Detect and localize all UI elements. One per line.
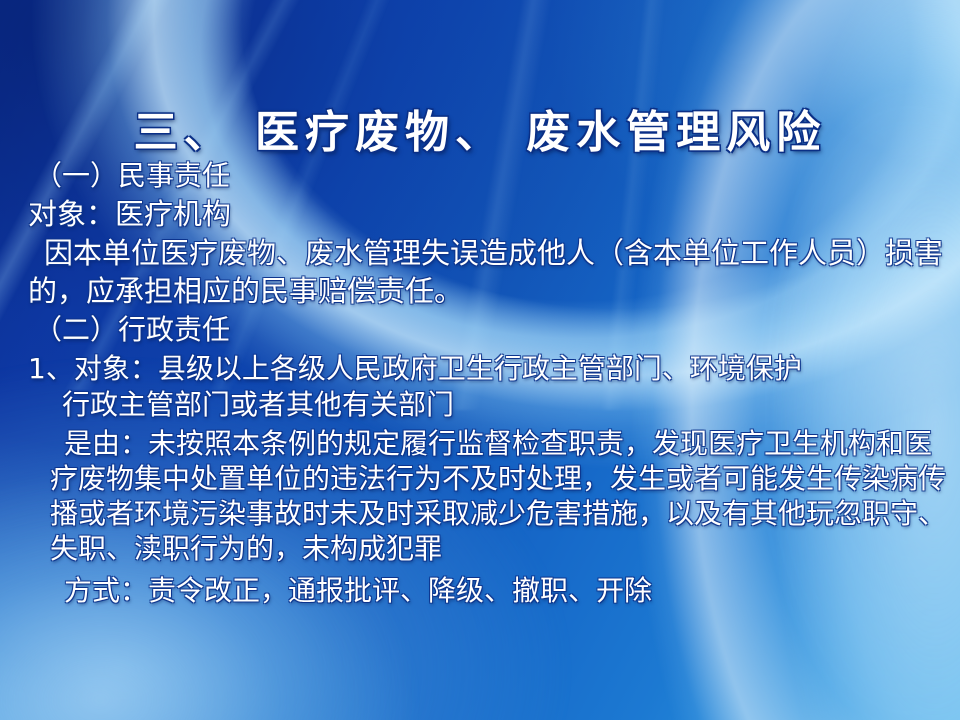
slide-content: 三、 医疗废物、 废水管理风险 （一）民事责任 对象：医疗机构 因本单位医疗废物… <box>0 0 960 720</box>
section-one-paragraph: 因本单位医疗废物、废水管理失误造成他人（含本单位工作人员）损害的，应承担相应的民… <box>16 235 946 310</box>
item-one-subject: 1、对象：县级以上各级人民政府卫生行政主管部门、环境保护 <box>16 351 946 387</box>
section-one-subject: 对象：医疗机构 <box>16 196 946 234</box>
item-one-subject-continued: 行政主管部门或者其他有关部门 <box>16 387 946 423</box>
section-two-heading: （二）行政责任 <box>16 312 946 348</box>
section-one-heading: （一）民事责任 <box>16 158 946 194</box>
slide-body: （一）民事责任 对象：医疗机构 因本单位医疗废物、废水管理失误造成他人（含本单位… <box>16 158 946 608</box>
item-one-method: 方式：责令改正，通报批评、降级、撤职、开除 <box>16 573 946 608</box>
slide-title: 三、 医疗废物、 废水管理风险 <box>0 96 960 160</box>
presentation-slide: 三、 医疗废物、 废水管理风险 （一）民事责任 对象：医疗机构 因本单位医疗废物… <box>0 0 960 720</box>
item-one-reason: 是由：未按照本条例的规定履行监督检查职责，发现医疗卫生机构和医疗废物集中处置单位… <box>16 426 946 567</box>
